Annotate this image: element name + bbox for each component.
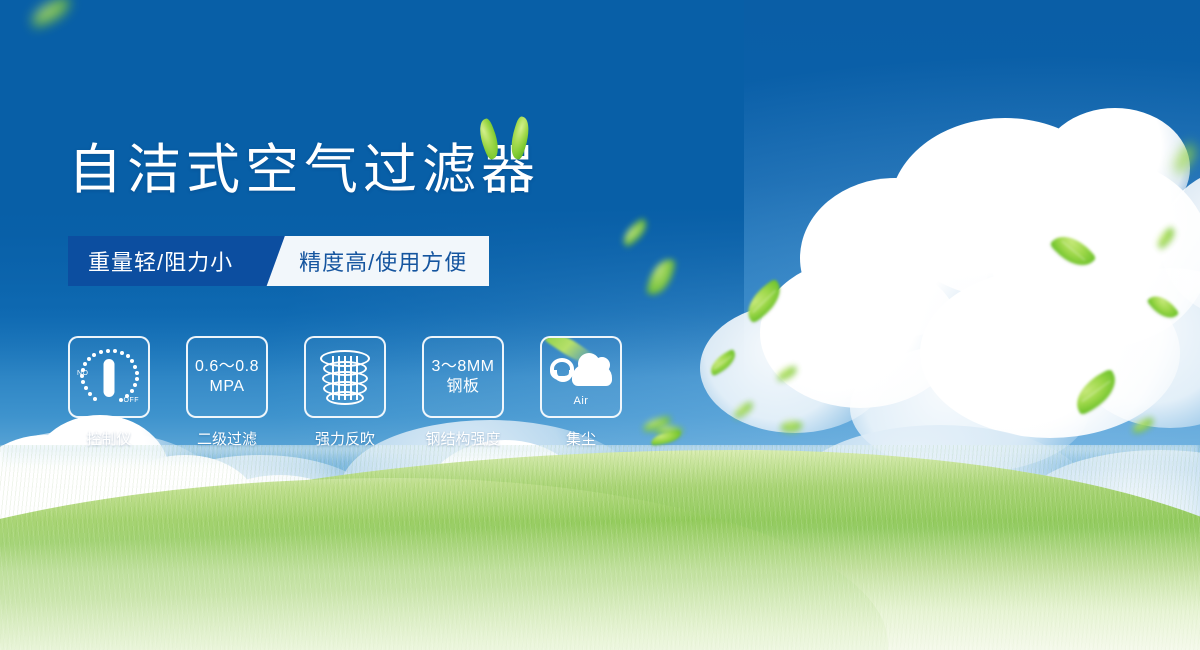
feature-icon-box [304,336,386,418]
feature-item-backblow[interactable]: 强力反吹 [304,336,386,449]
gauge-on-label: NO [77,370,89,377]
gauge-off-label: OFF [124,397,140,404]
pressure-line-2: MPA [195,377,259,397]
steel-line-2: 钢板 [432,377,495,397]
feature-list: NO OFF 控制仪 0.6～0.8 MPA 二级过滤 [68,336,622,449]
grass-highlight [0,520,1200,650]
subtitle-left: 重量轻/阻力小 [68,236,253,286]
feature-item-steel[interactable]: 3～8MM 钢板 钢结构强度 [422,336,504,449]
feature-label: 集尘 [566,428,596,449]
feature-icon-box: 3～8MM 钢板 [422,336,504,418]
feature-icon-box: NO OFF [68,336,150,418]
steel-line-1: 3～8MM [432,358,495,375]
air-label: Air [574,395,589,407]
subtitle-right: 精度高/使用方便 [289,236,489,286]
subtitle-bar: 重量轻/阻力小 精度高/使用方便 [68,236,489,286]
feature-label: 钢结构强度 [425,428,500,449]
hero-banner: 自洁式空气过滤器 重量轻/阻力小 精度高/使用方便 [0,0,1200,650]
feature-item-dust[interactable]: Air 集尘 [540,336,622,449]
feature-item-pressure[interactable]: 0.6～0.8 MPA 二级过滤 [186,336,268,449]
subtitle-divider [253,236,289,286]
pressure-text-icon: 0.6～0.8 MPA [195,357,259,397]
feature-item-controller[interactable]: NO OFF 控制仪 [68,336,150,449]
grass-field [0,445,1200,650]
cloud-air-icon: Air [550,350,612,404]
pressure-line-1: 0.6～0.8 [195,358,259,375]
feature-label: 强力反吹 [315,428,375,449]
steel-text-icon: 3～8MM 钢板 [432,357,495,397]
feature-icon-box: Air [540,336,622,418]
page-title: 自洁式空气过滤器 [68,143,540,197]
gauge-icon: NO OFF [78,348,140,406]
coil-filter-icon [319,348,371,406]
feature-label: 二级过滤 [197,428,257,449]
feature-label: 控制仪 [86,428,131,449]
feature-icon-box: 0.6～0.8 MPA [186,336,268,418]
